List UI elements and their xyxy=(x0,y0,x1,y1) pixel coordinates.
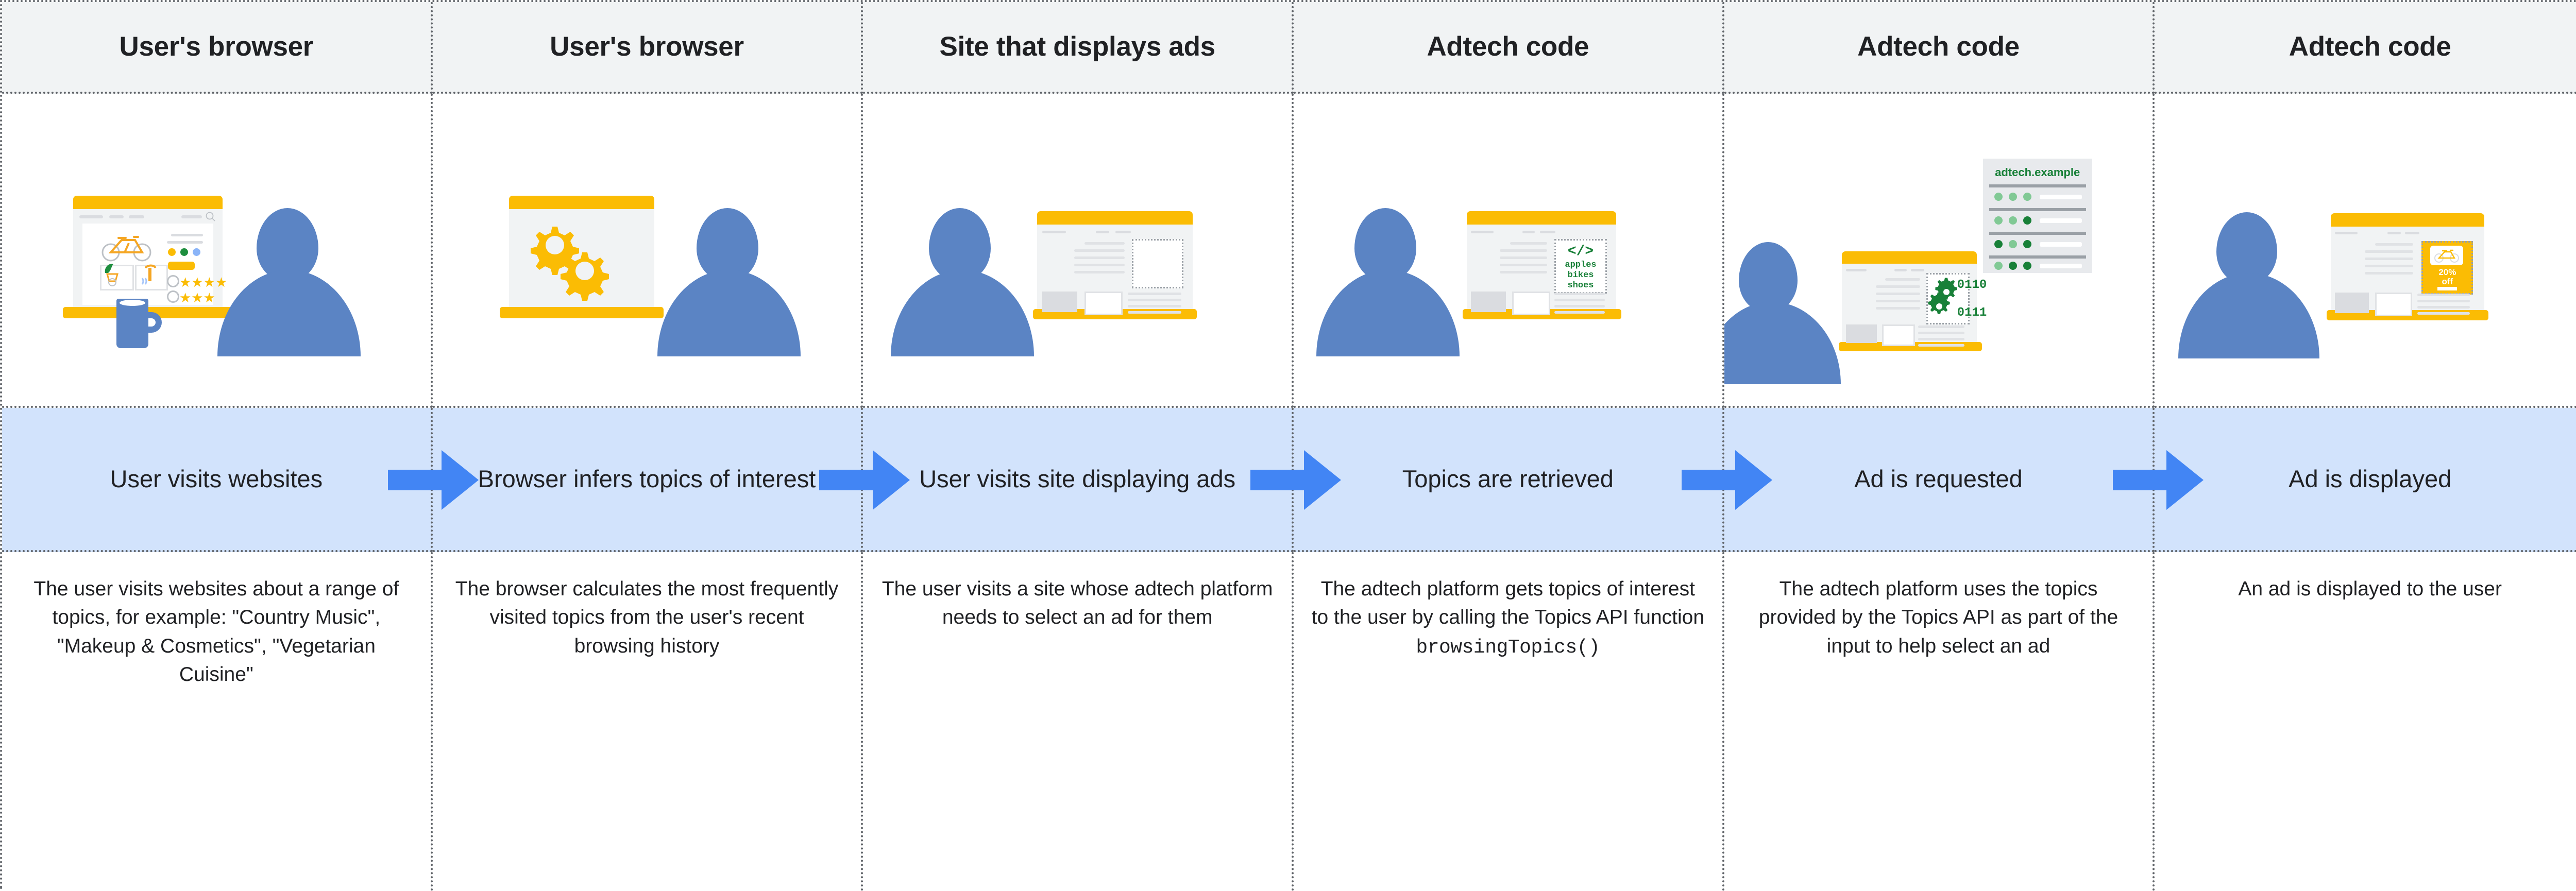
illustration-cell-5: 0110 0111 adtech.example xyxy=(1724,94,2155,408)
description-text: An ad is displayed to the user xyxy=(2221,575,2519,603)
step-cell-3: User visits site displaying ads xyxy=(863,408,1294,552)
step-label: Browser infers topics of interest xyxy=(434,463,860,495)
description-text: The user visits a site whose adtech plat… xyxy=(863,575,1292,632)
description-cell-2: The browser calculates the most frequent… xyxy=(433,552,863,891)
column-header-label: Adtech code xyxy=(2289,32,2451,62)
bike-discount-ad: 20% off xyxy=(2421,241,2473,295)
step-cell-5: Ad is requested xyxy=(1724,408,2155,552)
illustration-person-and-page-with-code-topics-card: </> apples bikes shoes xyxy=(1294,94,1722,406)
description-cell-3: The user visits a site whose adtech plat… xyxy=(863,552,1294,891)
illustration-cell-3 xyxy=(863,94,1294,408)
column-header-label: User's browser xyxy=(120,32,314,62)
description-text: The adtech platform uses the topics prov… xyxy=(1724,575,2153,660)
bicycle-icon xyxy=(2433,248,2460,263)
illustration-person-at-monitor-shopping-bike: ★★★★ ★★★ xyxy=(2,94,431,406)
column-header-label: Site that displays ads xyxy=(939,32,1215,62)
column-header-5: Adtech code xyxy=(1724,2,2155,94)
illustration-cell-4: </> apples bikes shoes xyxy=(1294,94,1724,408)
step-label: Ad is requested xyxy=(1810,463,2067,495)
step-cell-6: Ad is displayed xyxy=(2155,408,2576,552)
adtech-example-panel: adtech.example xyxy=(1983,159,2092,273)
column-header-label: Adtech code xyxy=(1427,32,1589,62)
step-cell-4: Topics are retrieved xyxy=(1294,408,1724,552)
plant-chair-icon xyxy=(102,262,130,286)
code-card-line-1: apples xyxy=(1556,260,1605,270)
topics-api-flow-diagram: User's browser User's browser Site that … xyxy=(0,0,2576,889)
description-cell-5: The adtech platform uses the topics prov… xyxy=(1724,552,2155,891)
column-header-label: Adtech code xyxy=(1857,32,2020,62)
gears-icon xyxy=(520,216,634,305)
column-header-label: User's browser xyxy=(550,32,744,62)
step-label: Topics are retrieved xyxy=(1358,463,1658,495)
empty-ad-slot xyxy=(1132,239,1183,288)
column-header-6: Adtech code xyxy=(2155,2,2576,94)
step-cell-1: User visits websites xyxy=(2,408,433,552)
description-cell-4: The adtech platform gets topics of inter… xyxy=(1294,552,1724,891)
step-label: Ad is displayed xyxy=(2244,463,2496,495)
step-cell-2: Browser infers topics of interest xyxy=(433,408,863,552)
column-header-4: Adtech code xyxy=(1294,2,1724,94)
hairdryer-icon xyxy=(137,264,163,290)
description-code: browsingTopics() xyxy=(1416,637,1600,659)
code-card-line-3: shoes xyxy=(1556,281,1605,290)
ad-discount-line-2: off xyxy=(2423,277,2471,287)
description-cell-6: An ad is displayed to the user xyxy=(2155,552,2576,891)
code-card-symbol: </> xyxy=(1556,244,1605,260)
code-card-line-2: bikes xyxy=(1556,270,1605,280)
description-text-with-code: The adtech platform gets topics of inter… xyxy=(1294,575,1722,662)
binary-row-2: 0111 xyxy=(1957,306,1987,320)
description-cell-1: The user visits websites about a range o… xyxy=(2,552,433,891)
illustration-person-and-article-page-with-empty-ad-slot xyxy=(863,94,1292,406)
description-text: The user visits websites about a range o… xyxy=(2,575,431,689)
illustration-person-and-page-with-bike-discount-ad: 20% off xyxy=(2155,94,2576,406)
illustration-cell-2 xyxy=(433,94,863,408)
binary-row-1: 0110 xyxy=(1957,278,1987,292)
search-icon xyxy=(205,211,216,222)
step-label: User visits websites xyxy=(66,463,367,495)
column-header-2: User's browser xyxy=(433,2,863,94)
illustration-person-at-monitor-gears xyxy=(433,94,861,406)
description-text: The browser calculates the most frequent… xyxy=(433,575,861,660)
step-label: User visits site displaying ads xyxy=(875,463,1280,495)
topics-code-card: </> apples bikes shoes xyxy=(1554,239,1607,294)
column-header-1: User's browser xyxy=(2,2,433,94)
adtech-panel-title: adtech.example xyxy=(1983,166,2092,179)
illustration-cell-6: 20% off xyxy=(2155,94,2576,408)
illustration-person-page-gears-and-adtech-example-panel: 0110 0111 adtech.example xyxy=(1724,94,2153,406)
column-header-3: Site that displays ads xyxy=(863,2,1294,94)
bicycle-icon xyxy=(100,232,154,262)
description-text-prefix: The adtech platform gets topics of inter… xyxy=(1312,578,1704,628)
illustration-cell-1: ★★★★ ★★★ xyxy=(2,94,433,408)
ad-discount-line-1: 20% xyxy=(2423,267,2471,278)
